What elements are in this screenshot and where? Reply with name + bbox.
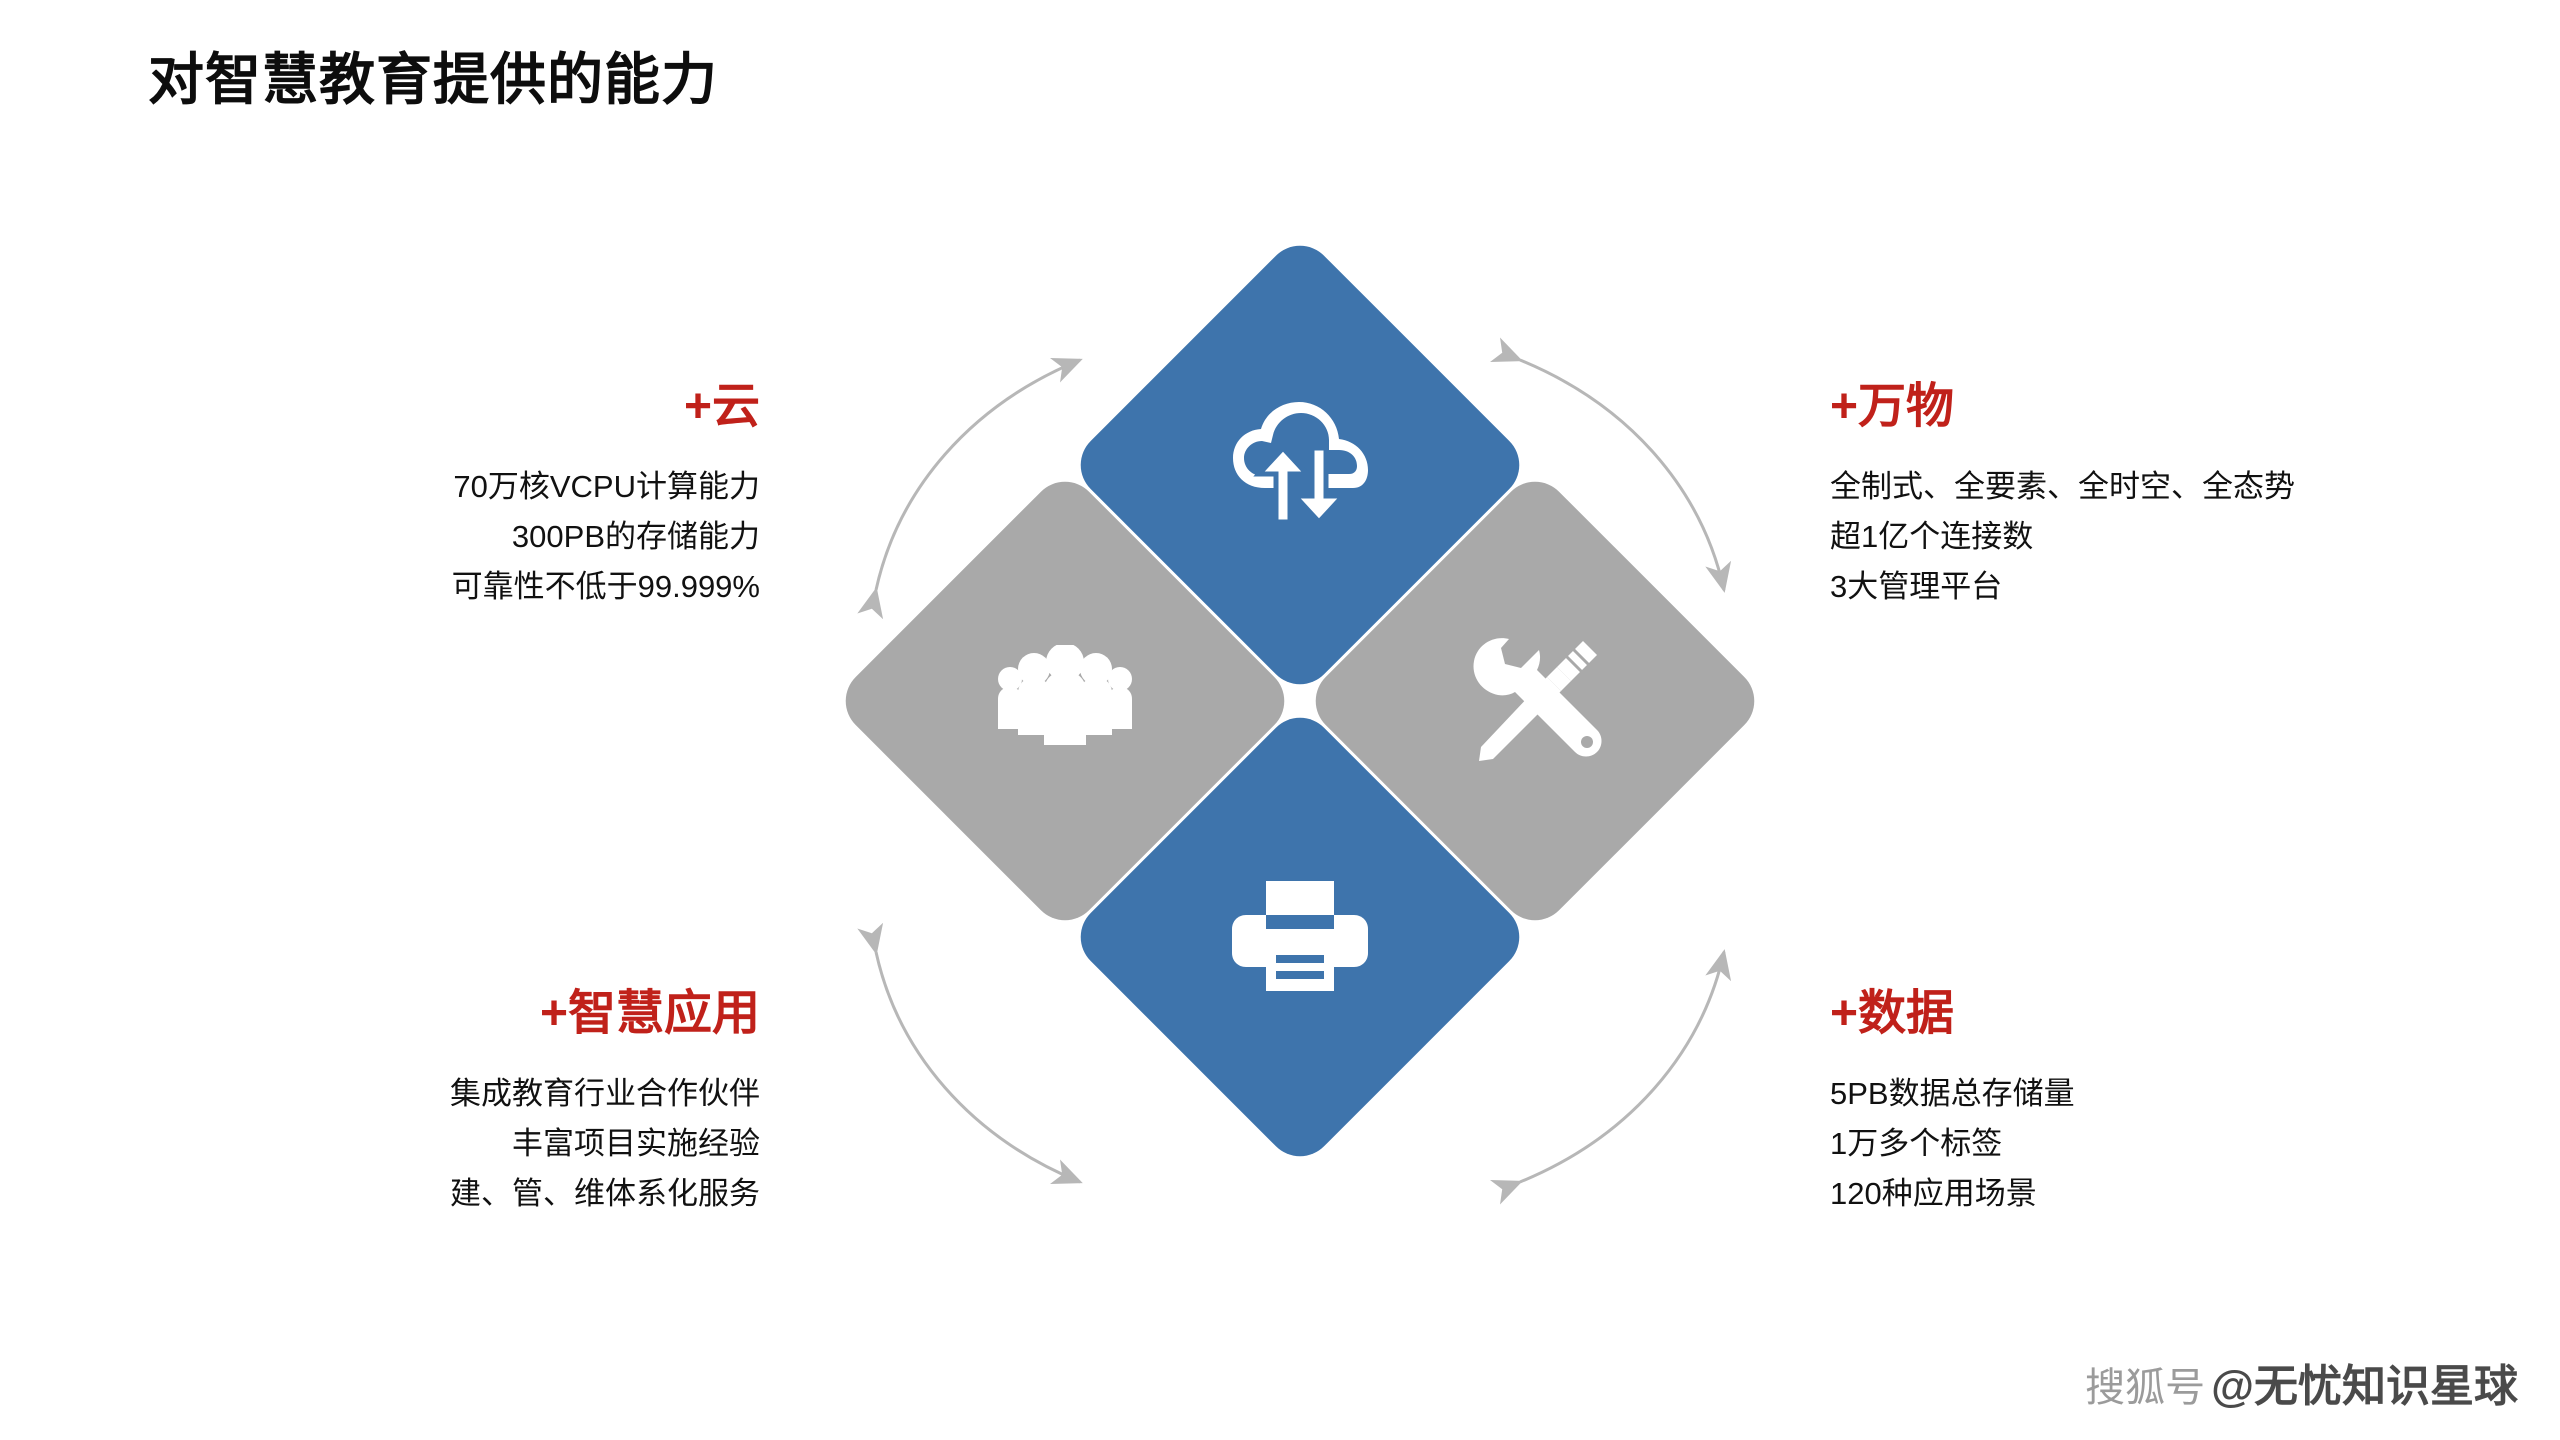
diamond-icon-wrap [1200, 837, 1400, 1037]
watermark-name: @无忧知识星球 [2211, 1350, 2518, 1414]
block-application-heading: +智慧应用 [160, 985, 760, 1043]
capability-diagram [780, 240, 1820, 1300]
block-application: +智慧应用 集成教育行业合作伙伴 丰富项目实施经验 建、管、维体系化服务 [160, 985, 760, 1219]
cloud-upload-download-icon [1225, 400, 1375, 530]
block-data-line: 120种应用场景 [1830, 1169, 2430, 1219]
people-group-icon [990, 645, 1140, 757]
printer-icon [1230, 877, 1370, 997]
block-things-line: 全制式、全要素、全时空、全态势 [1830, 462, 2430, 512]
page-title: 对智慧教育提供的能力 [148, 48, 718, 112]
block-things-heading: +万物 [1830, 378, 2430, 436]
block-things-line: 超1亿个连接数 [1830, 512, 2430, 562]
block-application-line: 建、管、维体系化服务 [160, 1169, 760, 1219]
diamond-icon-wrap [1200, 365, 1400, 565]
block-data: +数据 5PB数据总存储量 1万多个标签 120种应用场景 [1830, 985, 2430, 1219]
watermark-prefix: 搜狐号 [2085, 1355, 2205, 1413]
block-things-line: 3大管理平台 [1830, 562, 2430, 612]
block-cloud-line: 70万核VCPU计算能力 [160, 462, 760, 512]
diamond-icon-wrap [1435, 601, 1635, 801]
diamond-icon-wrap [965, 601, 1165, 801]
block-data-line: 1万多个标签 [1830, 1119, 2430, 1169]
block-data-heading: +数据 [1830, 985, 2430, 1043]
watermark: 搜狐号 @无忧知识星球 [2085, 1350, 2518, 1414]
block-application-line: 丰富项目实施经验 [160, 1119, 760, 1169]
block-cloud: +云 70万核VCPU计算能力 300PB的存储能力 可靠性不低于99.999% [160, 378, 760, 612]
block-cloud-heading: +云 [160, 378, 760, 436]
block-data-line: 5PB数据总存储量 [1830, 1069, 2430, 1119]
block-things: +万物 全制式、全要素、全时空、全态势 超1亿个连接数 3大管理平台 [1830, 378, 2430, 612]
wrench-screwdriver-icon [1465, 631, 1605, 771]
arc-bottom-left-icon [876, 952, 1080, 1182]
block-cloud-line: 可靠性不低于99.999% [160, 562, 760, 612]
block-cloud-line: 300PB的存储能力 [160, 512, 760, 562]
arc-bottom-right-icon [1520, 952, 1724, 1182]
block-application-line: 集成教育行业合作伙伴 [160, 1069, 760, 1119]
